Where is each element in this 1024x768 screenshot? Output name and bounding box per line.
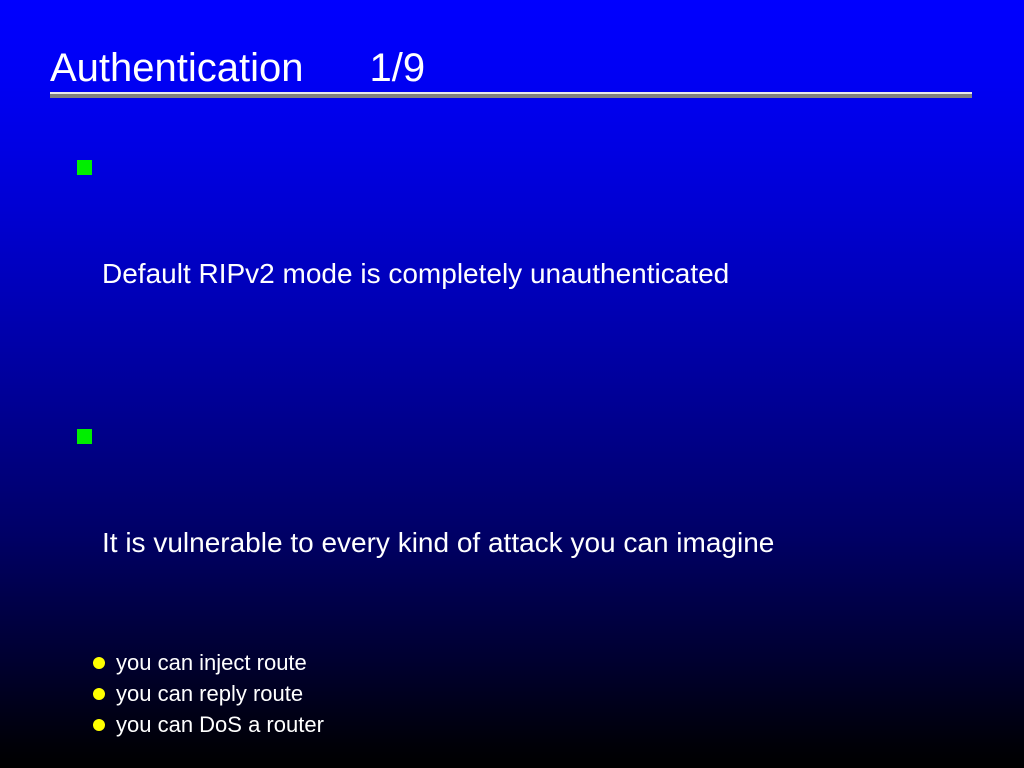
spacer [0, 364, 1024, 417]
square-bullet-icon [77, 160, 92, 175]
bullet-text: Default RIPv2 mode is completely unauthe… [102, 256, 1024, 292]
dot-bullet-icon [93, 657, 105, 669]
slide-body: Default RIPv2 mode is completely unauthe… [0, 148, 1024, 768]
presentation-slide: Authentication 1/9 Default RIPv2 mode is… [0, 0, 1024, 768]
page-title: Authentication [50, 46, 304, 90]
bullet-item: It is vulnerable to every kind of attack… [0, 417, 1024, 633]
title-divider [50, 92, 972, 98]
sub-bullet-item: you can reply route [0, 678, 1024, 709]
sub-bullet-text: you can reply route [116, 681, 303, 706]
sub-bullet-item: you can DoS a router [0, 709, 1024, 740]
spacer [0, 740, 1024, 768]
title-divider-shadow [50, 94, 972, 98]
bullet-text: It is vulnerable to every kind of attack… [102, 525, 1024, 561]
slide-title-row: Authentication 1/9 [50, 46, 972, 92]
sub-bullet-list: you can inject route you can reply route… [0, 647, 1024, 740]
dot-bullet-icon [93, 719, 105, 731]
square-bullet-icon [77, 429, 92, 444]
sub-bullet-text: you can inject route [116, 650, 307, 675]
bullet-item: Default RIPv2 mode is completely unauthe… [0, 148, 1024, 364]
slide-index-label: 1/9 [370, 46, 426, 90]
slide-title-block: Authentication 1/9 [50, 46, 972, 102]
sub-bullet-item: you can inject route [0, 647, 1024, 678]
sub-bullet-text: you can DoS a router [116, 712, 324, 737]
dot-bullet-icon [93, 688, 105, 700]
